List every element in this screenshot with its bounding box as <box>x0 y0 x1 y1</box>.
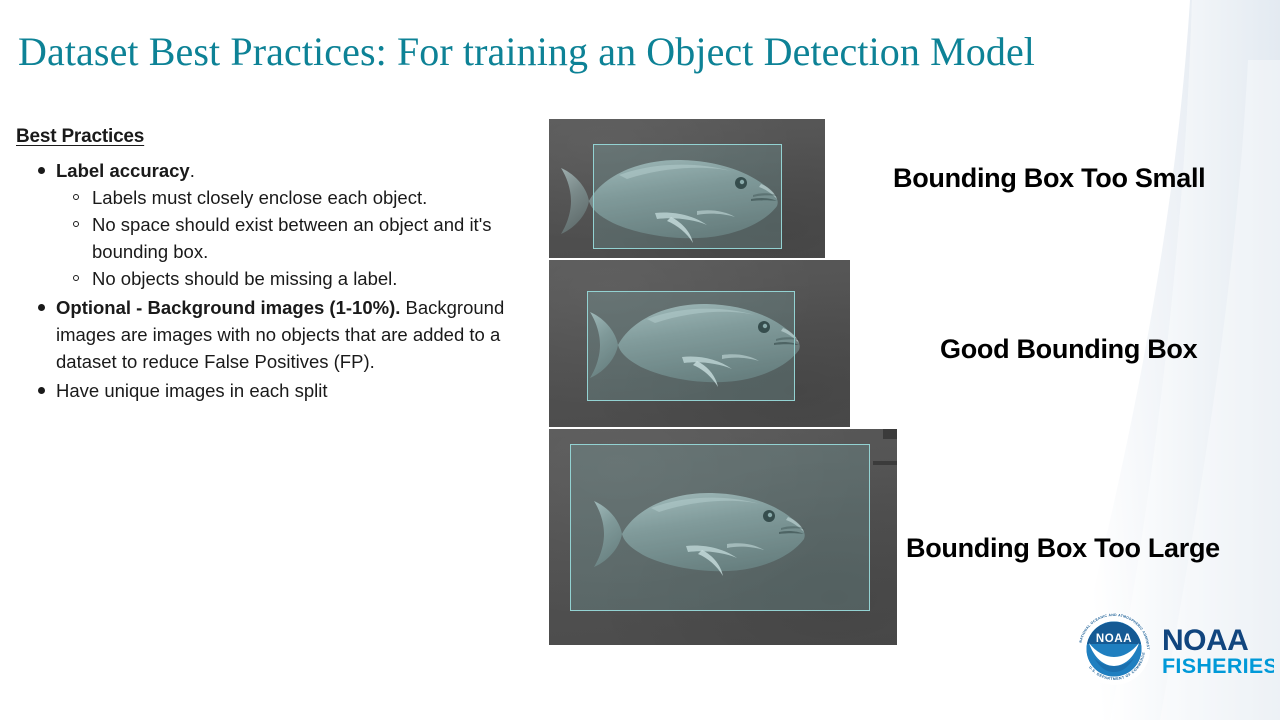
caption-good: Good Bounding Box <box>940 334 1197 365</box>
example-image-good <box>549 260 850 427</box>
list-item: No objects should be missing a label. <box>56 265 541 292</box>
list-item: Have unique images in each split <box>16 377 541 404</box>
list-item-bold-label: Optional - Background images (1-10%). <box>56 297 400 318</box>
photo-corner-artifact <box>883 429 897 439</box>
sub-list-item-text: No space should exist between an object … <box>92 214 491 262</box>
bounding-box-annotation <box>587 291 795 401</box>
bullet-dot-icon <box>38 167 45 174</box>
list-item-text: Have unique images in each split <box>56 380 328 401</box>
noaa-fisheries-logo: NOAA NATIONAL OCEANIC AND ATMOSPHERIC AD… <box>1074 608 1274 688</box>
list-item: Label accuracy. Labels must closely encl… <box>16 157 541 292</box>
list-item: No space should exist between an object … <box>56 211 541 265</box>
photo-edge-artifact <box>873 461 897 465</box>
caption-too-small: Bounding Box Too Small <box>893 163 1205 194</box>
sub-list: Labels must closely enclose each object.… <box>56 184 541 292</box>
hollow-bullet-dot-icon <box>73 194 79 200</box>
list-item-bold-label: Label accuracy <box>56 160 190 181</box>
bullet-dot-icon <box>38 387 45 394</box>
hollow-bullet-dot-icon <box>73 275 79 281</box>
best-practices-panel: Best Practices Label accuracy. Labels mu… <box>16 126 541 406</box>
best-practices-list: Label accuracy. Labels must closely encl… <box>16 157 541 404</box>
caption-too-large: Bounding Box Too Large <box>906 533 1220 564</box>
example-image-too-large <box>549 429 897 645</box>
noaa-seal-icon: NOAA NATIONAL OCEANIC AND ATMOSPHERIC AD… <box>1074 608 1150 685</box>
hollow-bullet-dot-icon <box>73 221 79 227</box>
list-item: Optional - Background images (1-10%). Ba… <box>16 294 541 375</box>
logo-wordmark-noaa: NOAA <box>1162 624 1248 657</box>
bounding-box-annotation <box>570 444 870 611</box>
logo-wordmark-fisheries: FISHERIES <box>1162 654 1274 678</box>
list-item-text: . <box>190 160 195 181</box>
sub-list-item-text: No objects should be missing a label. <box>92 268 397 289</box>
bounding-box-annotation <box>593 144 782 249</box>
seal-inner-wordmark: NOAA <box>1096 633 1132 645</box>
example-image-too-small <box>549 119 825 258</box>
list-item: Labels must closely enclose each object. <box>56 184 541 211</box>
sub-list-item-text: Labels must closely enclose each object. <box>92 187 427 208</box>
best-practices-heading: Best Practices <box>16 126 541 148</box>
page-title: Dataset Best Practices: For training an … <box>18 28 1248 76</box>
bullet-dot-icon <box>38 304 45 311</box>
